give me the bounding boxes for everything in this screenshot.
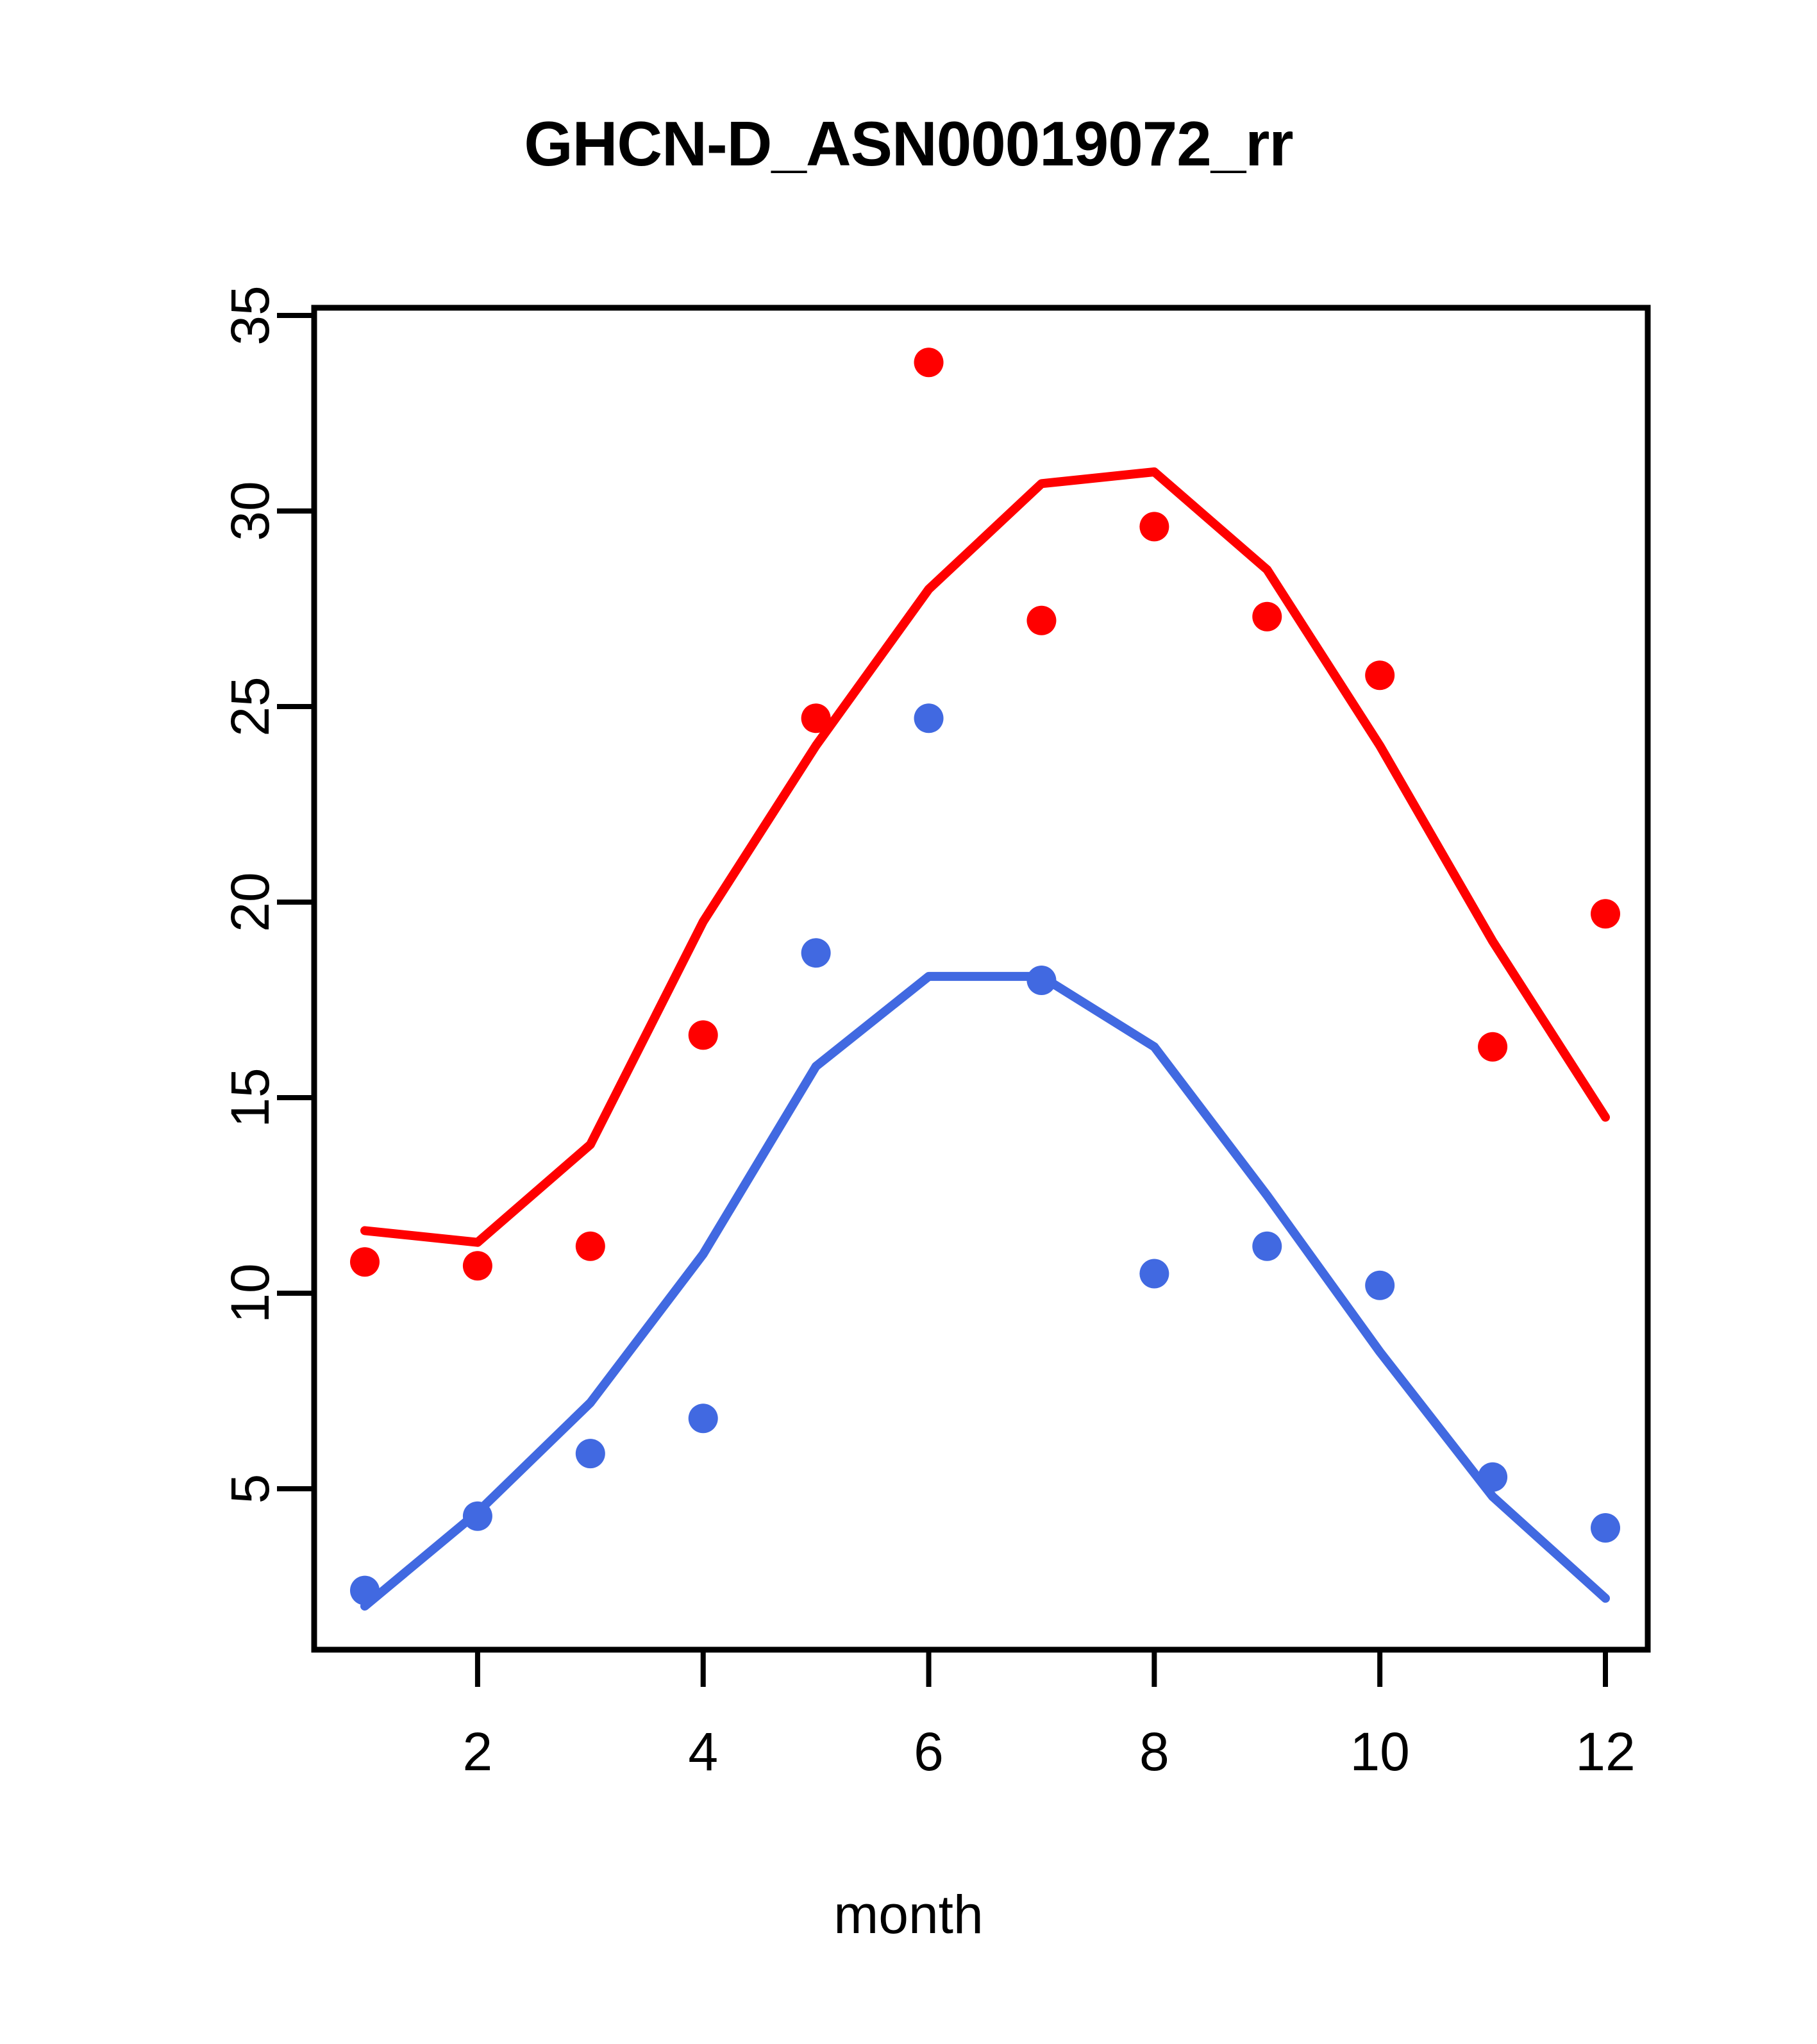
y-axis-tick-label: 30 <box>220 481 280 540</box>
x-axis-tick-label: 8 <box>1139 1721 1169 1782</box>
data-point <box>463 1502 492 1531</box>
data-point <box>1591 1513 1620 1543</box>
data-point <box>1365 1271 1394 1300</box>
y-axis-tick-label: 20 <box>220 872 280 932</box>
data-point <box>1365 660 1394 690</box>
data-point <box>1252 602 1282 632</box>
data-point <box>1139 512 1169 541</box>
x-axis-label: month <box>0 1884 1817 1946</box>
y-axis-tick-label: 35 <box>220 285 280 345</box>
data-point <box>1252 1232 1282 1261</box>
data-point <box>689 1403 718 1433</box>
data-point <box>576 1232 605 1261</box>
series-line-blue-line <box>365 976 1605 1606</box>
chart-figure: GHCN-D_ASN00019072_rr 510152025303524681… <box>0 0 1817 2044</box>
data-point <box>350 1576 380 1605</box>
y-axis-tick-label: 15 <box>220 1068 280 1127</box>
data-point <box>463 1251 492 1280</box>
x-axis-tick-label: 2 <box>463 1721 493 1782</box>
x-axis-tick-label: 10 <box>1350 1721 1409 1782</box>
x-axis-tick-label: 6 <box>914 1721 944 1782</box>
data-point <box>1478 1032 1507 1062</box>
data-point <box>1478 1462 1507 1492</box>
series-line-red-line <box>365 472 1605 1243</box>
data-point <box>914 703 944 733</box>
data-point <box>801 938 831 968</box>
data-point <box>801 703 831 733</box>
x-axis-tick-label: 4 <box>688 1721 718 1782</box>
series-lines <box>365 472 1605 1606</box>
data-point <box>914 348 944 377</box>
data-point <box>689 1020 718 1050</box>
y-axis-tick-label: 10 <box>220 1263 280 1323</box>
data-point <box>1026 966 1056 995</box>
data-point <box>1139 1259 1169 1289</box>
axis-tick-labels: 510152025303524681012 <box>220 285 1636 1782</box>
y-axis-tick-label: 25 <box>220 676 280 736</box>
chart-canvas: 510152025303524681012 <box>0 0 1817 2044</box>
axis-ticks <box>277 315 1605 1687</box>
x-axis-tick-label: 12 <box>1575 1721 1635 1782</box>
data-point <box>350 1247 380 1277</box>
y-axis-tick-label: 5 <box>220 1474 280 1504</box>
data-point <box>576 1439 605 1468</box>
data-point <box>1591 899 1620 928</box>
data-point <box>1026 606 1056 635</box>
